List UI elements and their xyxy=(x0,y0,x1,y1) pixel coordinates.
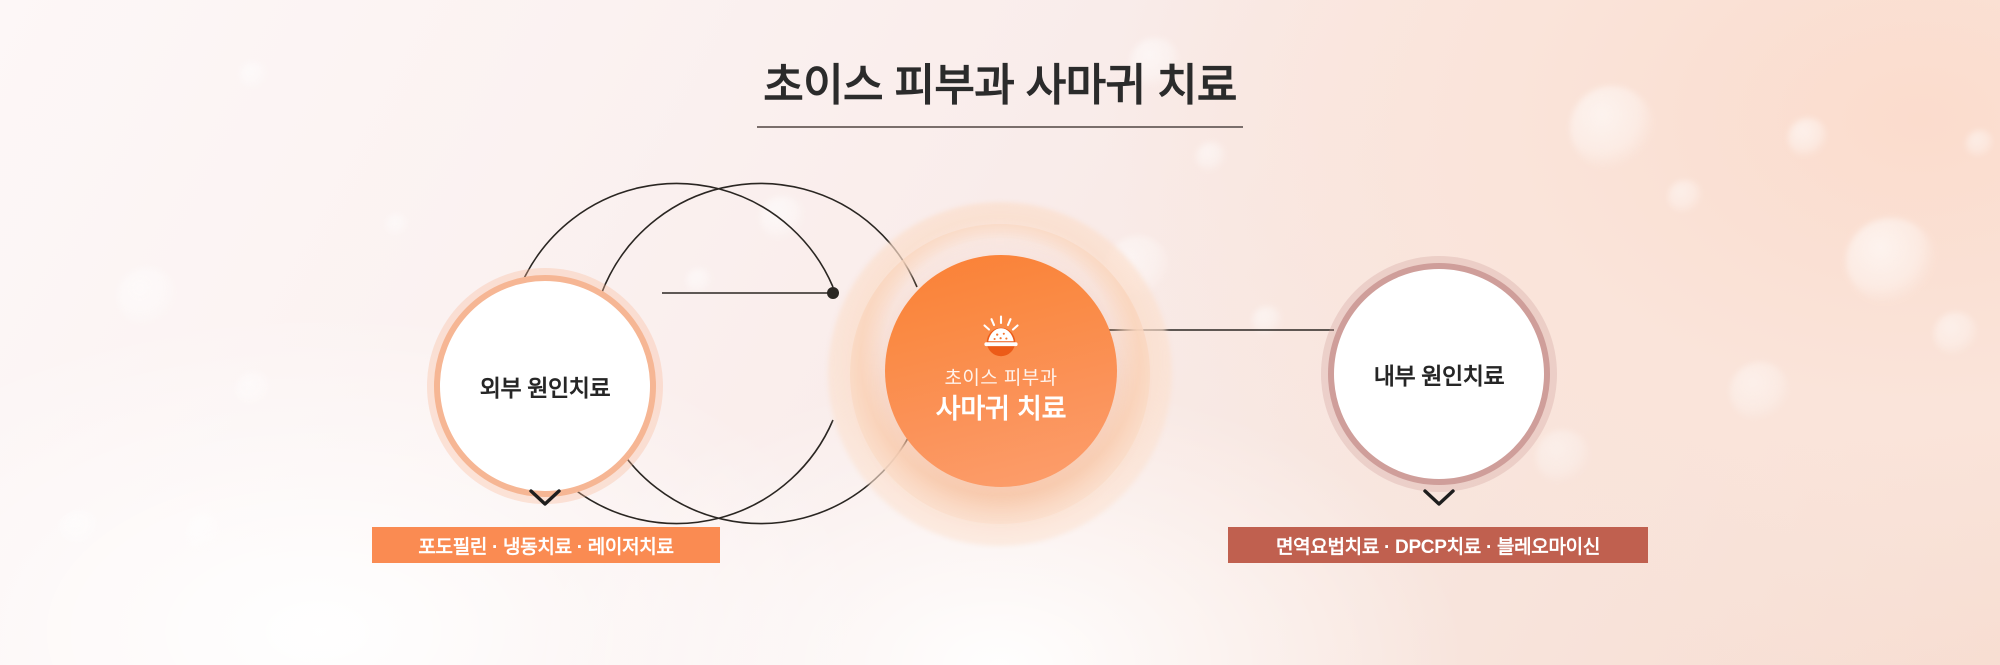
node-label-internal: 내부 원인치료 xyxy=(1374,357,1505,391)
center-node-core[interactable]: 초이스 피부과 사마귀 치료 xyxy=(885,255,1117,487)
wart-bump-icon xyxy=(976,315,1026,359)
infographic-canvas: 초이스 피부과 사마귀 치료 외부 원인치료 xyxy=(0,0,2000,665)
chevron-down-icon xyxy=(528,487,562,507)
chevron-down-icon xyxy=(1422,487,1456,507)
pill-external-treatments[interactable]: 포도필린 · 냉동치료 · 레이저치료 xyxy=(372,527,720,563)
node-internal-cause-treatment[interactable]: 내부 원인치료 xyxy=(1328,263,1550,485)
pill-internal-treatments[interactable]: 면역요법치료 · DPCP치료 · 블레오마이신 xyxy=(1228,527,1648,563)
treatment-diagram: 외부 원인치료 xyxy=(0,0,2000,665)
node-label-external: 외부 원인치료 xyxy=(480,369,611,403)
center-node-subtitle: 초이스 피부과 xyxy=(945,367,1058,391)
node-external-cause-treatment[interactable]: 외부 원인치료 xyxy=(434,275,656,497)
center-node-cluster[interactable]: 초이스 피부과 사마귀 치료 xyxy=(828,202,1172,546)
center-node-title: 사마귀 치료 xyxy=(936,392,1067,427)
